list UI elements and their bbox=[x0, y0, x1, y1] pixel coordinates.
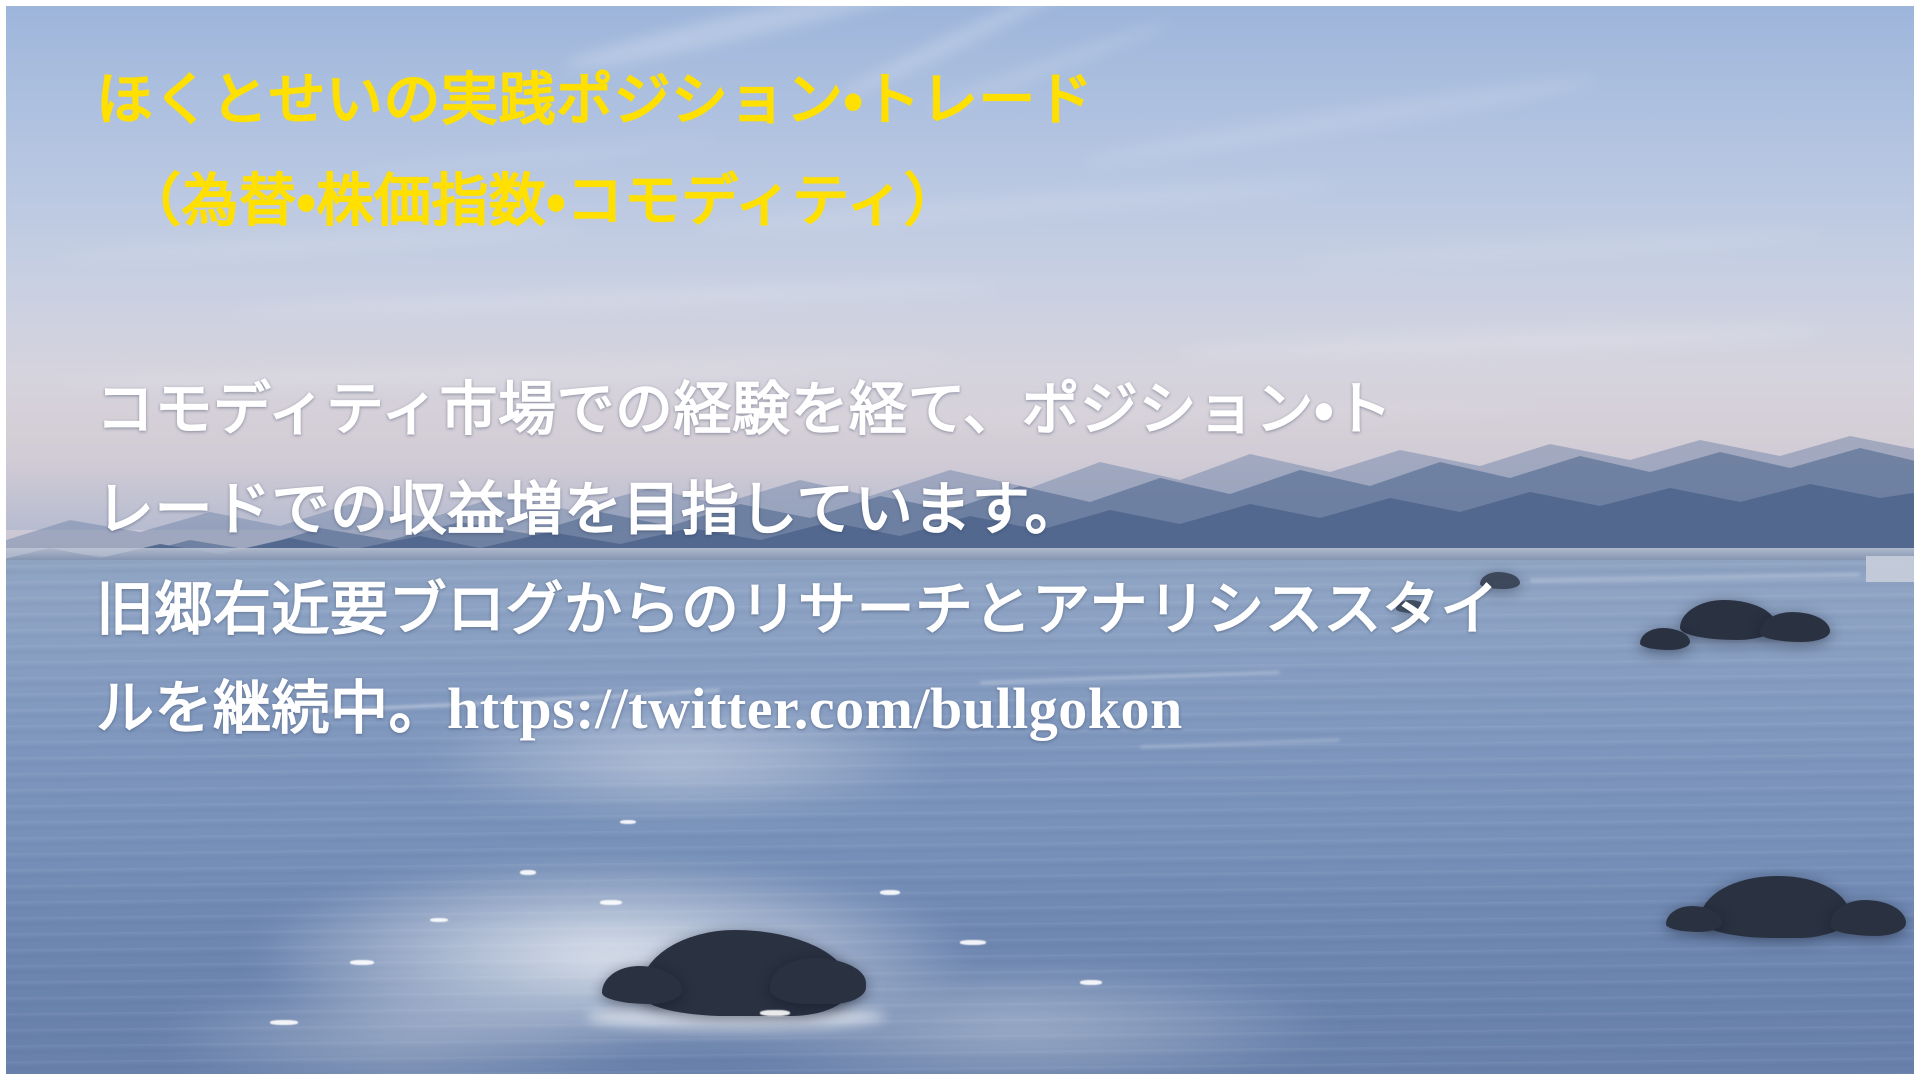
body-line-4-prefix: ルを継続中。 bbox=[96, 676, 447, 741]
banner-image: ほくとせいの実践ポジション・トレード （為替・株価指数・コモディティ） コモディ… bbox=[0, 0, 1920, 1080]
title-line-2: （為替・株価指数・コモディティ） bbox=[96, 151, 1516, 252]
body-line-4: ルを継続中。https://twitter.com/bullgokon bbox=[96, 659, 1816, 759]
title-line-1: ほくとせいの実践ポジション・トレード bbox=[96, 50, 1516, 151]
body-block: コモディティ市場での経験を経て、ポジション・ト レードでの収益増を目指しています… bbox=[96, 360, 1816, 759]
title-block: ほくとせいの実践ポジション・トレード （為替・株価指数・コモディティ） bbox=[96, 50, 1516, 253]
body-line-2: レードでの収益増を目指しています。 bbox=[96, 460, 1816, 560]
twitter-url-link[interactable]: https://twitter.com/bullgokon bbox=[447, 676, 1183, 741]
text-overlay: ほくとせいの実践ポジション・トレード （為替・株価指数・コモディティ） コモディ… bbox=[0, 0, 1920, 1080]
body-line-1: コモディティ市場での経験を経て、ポジション・ト bbox=[96, 360, 1816, 460]
body-line-3: 旧郷右近要ブログからのリサーチとアナリシススタイ bbox=[96, 560, 1816, 660]
